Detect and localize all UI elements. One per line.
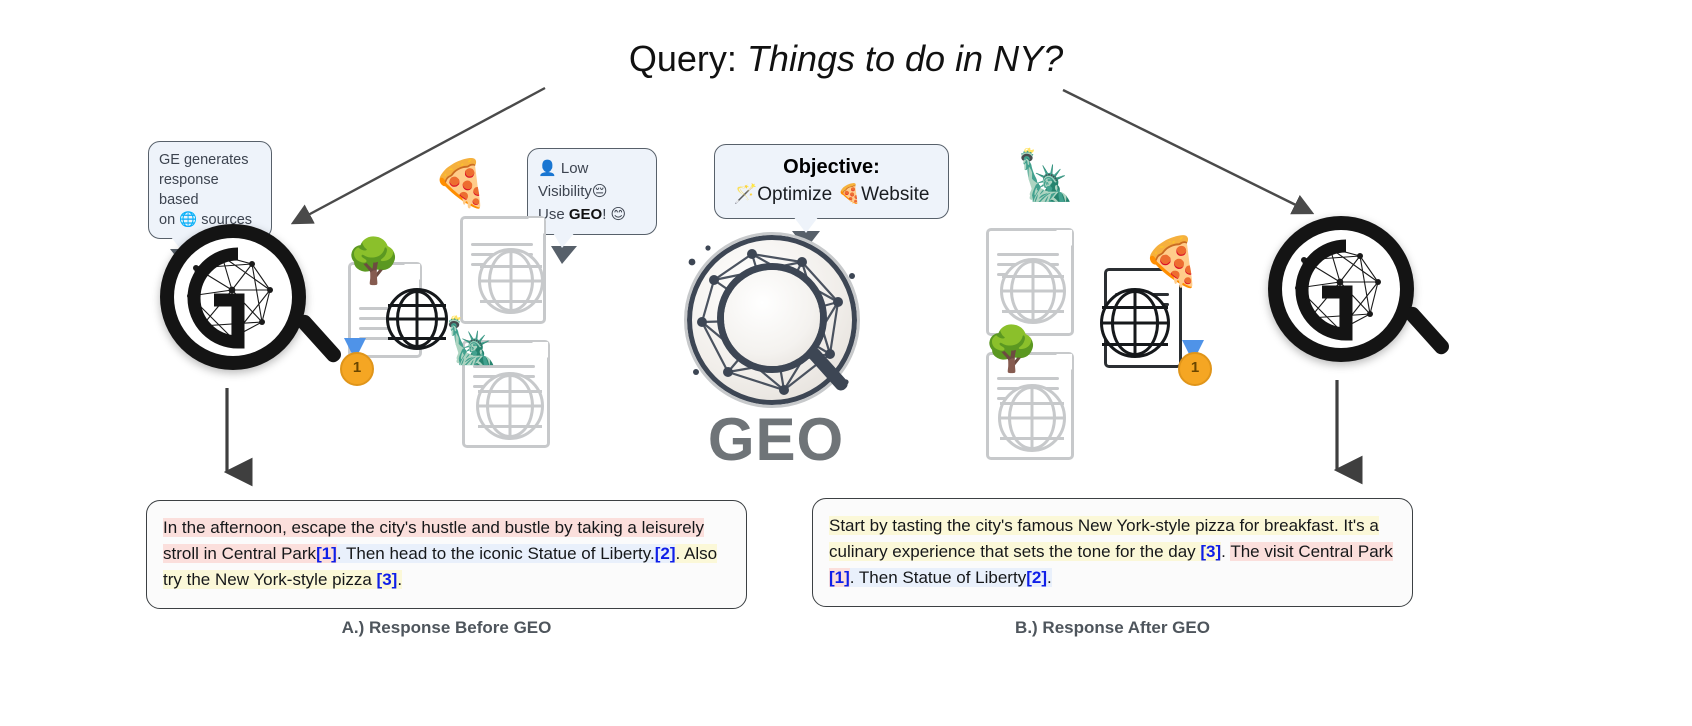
response-text-segment: . <box>1221 542 1230 561</box>
globe-parallel <box>1102 306 1168 345</box>
magic-wand-icon: 🪄 <box>734 183 758 205</box>
globe-source-icon <box>998 384 1066 452</box>
search-engine-logo-right <box>1268 216 1414 362</box>
citation-marker: [1] <box>316 544 337 563</box>
pizza-icon: 🍕 <box>1142 238 1202 286</box>
callout-lowvis-bang: ! <box>602 206 606 223</box>
globe-parallel <box>478 390 542 428</box>
caption-before-geo: A.) Response Before GEO <box>146 618 747 638</box>
citation-marker: [3] <box>1200 542 1221 561</box>
callout-lowvis-geo: GEO <box>569 206 602 223</box>
network-graph-icon <box>174 238 292 356</box>
geo-logo: GEO <box>676 232 876 477</box>
search-engine-logo-left <box>160 224 306 370</box>
rank-medal-badge: 1 <box>1178 352 1212 386</box>
rank-medal-badge: 1 <box>340 352 374 386</box>
doc-fold <box>528 218 544 234</box>
citation-marker: [2] <box>1026 568 1047 587</box>
citation-marker: [1] <box>829 568 850 587</box>
pizza-icon: 🍕 <box>432 160 489 206</box>
pizza-icon: 🍕 <box>837 183 861 205</box>
page-title: Query: Things to do in NY? <box>0 36 1692 82</box>
query-value: Things to do in NY? <box>747 38 1063 79</box>
magnifier-handle <box>1402 304 1452 357</box>
callout-tail <box>552 231 576 248</box>
globe-source-icon <box>386 288 448 350</box>
globe-parallel <box>1002 275 1064 312</box>
response-box-before-geo: In the afternoon, escape the city's hust… <box>146 500 747 609</box>
callout-tail <box>793 216 819 233</box>
statue-of-liberty-icon: 🗽 <box>444 320 499 364</box>
smiling-face-icon: 😊 <box>611 205 627 223</box>
doc-fold <box>404 264 420 280</box>
response-text-segment: . Then head to the iconic Statue of Libe… <box>337 544 655 563</box>
citation-marker: [3] <box>377 570 398 589</box>
globe-parallel <box>1000 402 1064 440</box>
response-text-segment: The visit Central Park <box>1230 542 1393 561</box>
citation-marker: [2] <box>655 544 676 563</box>
callout-lowvis-line1: 👤 Low Visibility😔 <box>538 157 646 203</box>
callout-lowvis-line2: Use GEO! 😊 <box>538 203 646 226</box>
callout-objective-body: 🪄Optimize 🍕Website <box>727 181 936 208</box>
doc-line <box>997 377 1059 380</box>
person-icon: 👤 <box>538 159 557 177</box>
callout-objective-text2: Website <box>861 184 929 205</box>
magnifier-handle <box>294 312 344 365</box>
callout-low-visibility: 👤 Low Visibility😔 Use GEO! 😊 <box>527 148 657 235</box>
arrow-right-engine-to-response <box>1322 380 1352 488</box>
response-text-segment: . <box>1047 568 1052 587</box>
callout-ge-line2: response based <box>159 170 261 210</box>
globe-source-icon <box>478 248 544 314</box>
tree-icon: 🌳 <box>984 328 1039 372</box>
callout-ge-line1: GE generates <box>159 150 261 170</box>
globe-source-icon <box>476 372 544 440</box>
doc-fold <box>1056 354 1072 370</box>
callout-objective: Objective: 🪄Optimize 🍕Website <box>714 144 949 219</box>
response-text-segment: . <box>397 570 402 589</box>
statue-of-liberty-icon: 🗽 <box>1016 152 1076 200</box>
magnifier-lens <box>724 270 820 366</box>
globe-source-icon <box>1000 258 1066 324</box>
callout-objective-header: Objective: <box>727 154 936 181</box>
caption-after-geo: B.) Response After GEO <box>812 618 1413 638</box>
geo-wordmark: GEO <box>676 408 876 472</box>
arrow-left-engine-to-response <box>212 388 242 488</box>
globe-source-icon <box>1100 288 1170 358</box>
globe-parallel <box>480 265 542 302</box>
doc-fold <box>532 342 548 358</box>
doc-fold <box>1056 230 1072 246</box>
response-box-after-geo: Start by tasting the city's famous New Y… <box>812 498 1413 607</box>
callout-objective-text1: Optimize <box>757 184 832 205</box>
sad-face-icon: 😔 <box>592 182 608 200</box>
doc-line <box>471 243 533 246</box>
network-graph-icon <box>1282 230 1400 348</box>
tree-icon: 🌳 <box>346 240 401 284</box>
doc-line <box>997 253 1059 256</box>
response-text-segment: . Then Statue of Liberty <box>850 568 1026 587</box>
query-label: Query: <box>629 38 737 79</box>
globe-parallel <box>388 304 446 339</box>
